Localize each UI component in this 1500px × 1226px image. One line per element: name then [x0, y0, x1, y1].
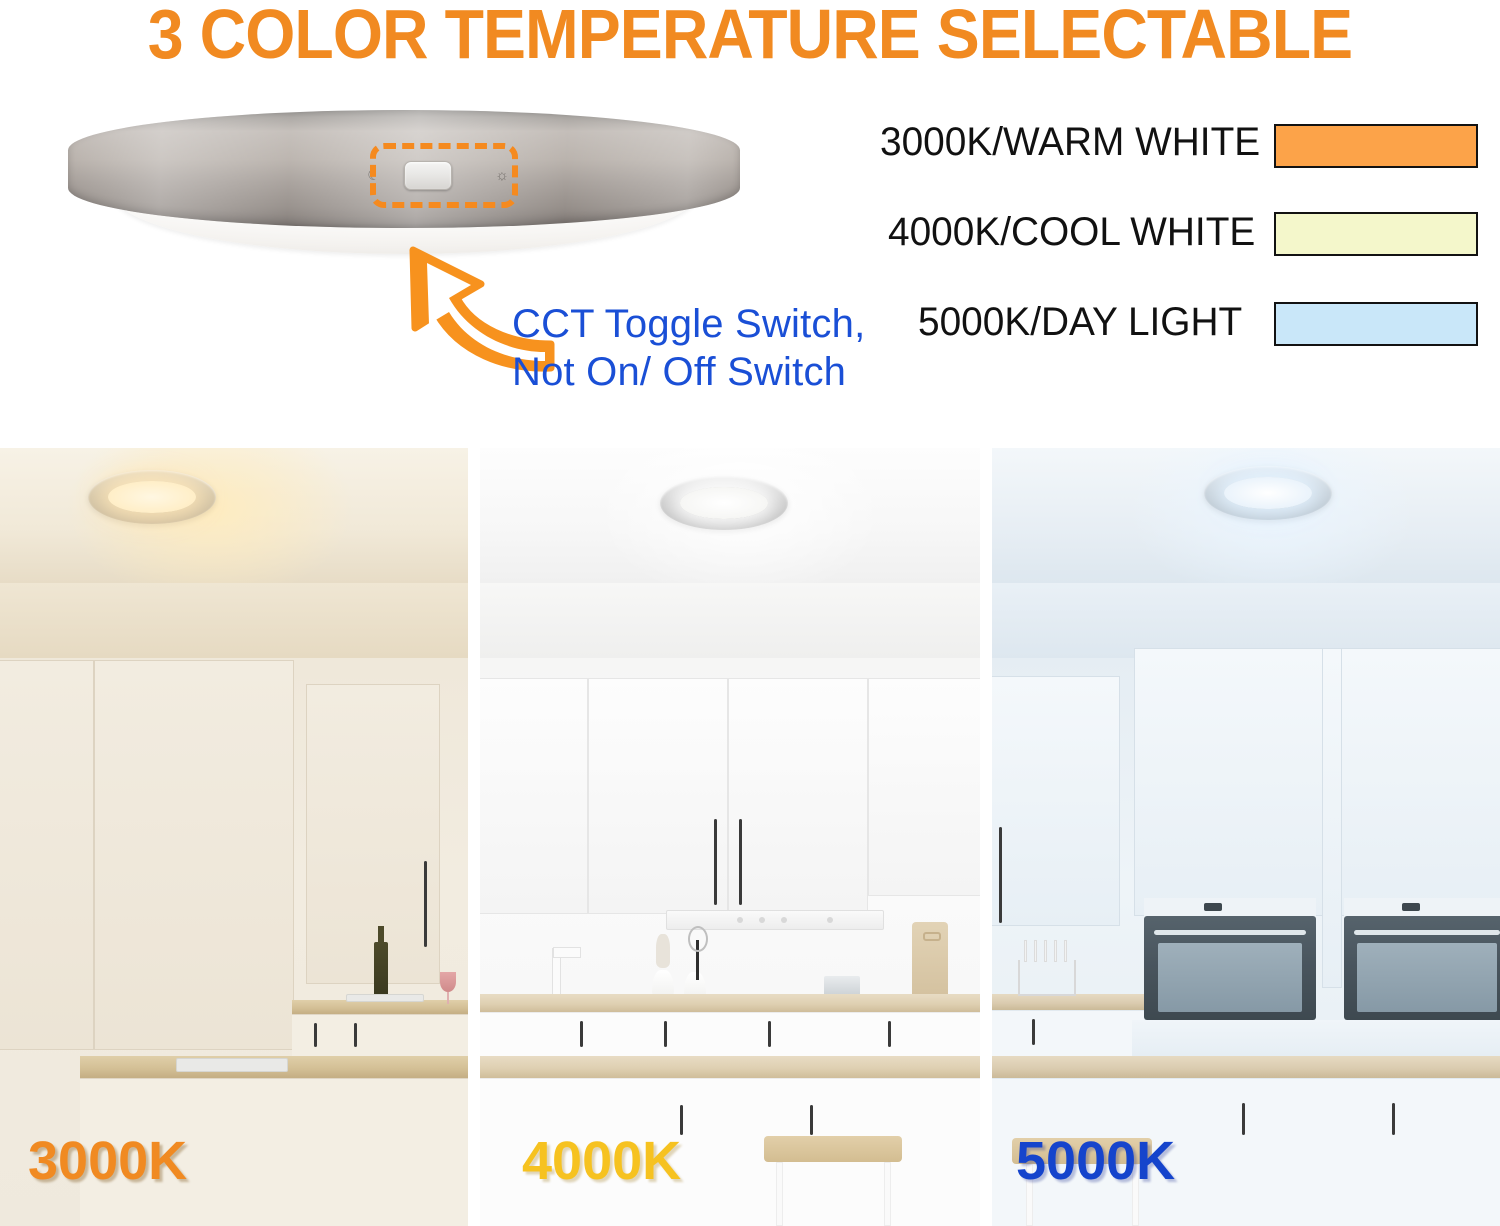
cabinet-handle	[424, 861, 427, 947]
ceiling-fixture	[660, 476, 788, 530]
oven-display	[1402, 903, 1420, 911]
back-counter	[480, 994, 980, 1012]
tray	[346, 994, 424, 1002]
ceiling-fixture	[88, 470, 216, 524]
swatch-warm-white	[1274, 124, 1478, 168]
soffit	[0, 583, 468, 658]
scene-4000k: 4000K	[480, 448, 980, 1226]
legend-label-warm-white: 3000K/WARM WHITE	[880, 120, 1260, 165]
wall-oven	[1144, 916, 1316, 1020]
page-title: 3 COLOR TEMPERATURE SELECTABLE	[60, 0, 1440, 74]
bar-stool-leg	[884, 1162, 891, 1226]
island-counter	[992, 1056, 1500, 1078]
base-cabinets	[292, 1014, 468, 1056]
wine-glass	[440, 972, 456, 992]
oven-display	[1204, 903, 1222, 911]
oven-cabinet	[1332, 648, 1500, 916]
base-cabinets	[480, 1012, 980, 1056]
cabinet-handle	[354, 1023, 357, 1047]
swatch-day-light	[1274, 302, 1478, 346]
cabinet-handle	[1392, 1103, 1395, 1135]
back-counter	[992, 994, 1144, 1010]
hood-control	[759, 917, 765, 923]
oven-control-panel	[1144, 898, 1316, 916]
scene-5000k: 5000K	[992, 448, 1500, 1226]
panel-label-5000k: 5000K	[1016, 1130, 1175, 1192]
scene-comparison-strip: 3000K	[0, 448, 1500, 1226]
dish-plate	[1054, 940, 1057, 962]
tall-cabinet	[0, 660, 94, 1050]
ceiling-fixture	[1204, 466, 1332, 520]
cabinet-handle	[580, 1021, 583, 1047]
tall-cabinet	[992, 676, 1120, 926]
cabinet-handle	[1032, 1019, 1035, 1045]
sink	[176, 1058, 288, 1072]
wall-oven	[1344, 916, 1500, 1020]
fixture-lens	[1224, 477, 1311, 509]
upper-cabinet	[480, 678, 588, 914]
legend-label-day-light: 5000K/DAY LIGHT	[918, 300, 1242, 345]
hood-control	[781, 917, 787, 923]
soffit	[992, 583, 1500, 658]
bar-stool-leg	[776, 1162, 783, 1226]
scene-3000k: 3000K	[0, 448, 468, 1226]
back-counter	[292, 1000, 468, 1014]
cabinet-divider	[1322, 648, 1342, 988]
infographic-root: 3 COLOR TEMPERATURE SELECTABLE ☾ ☼ CCT T…	[0, 0, 1500, 1226]
whisk-icon	[688, 926, 708, 952]
hood-control	[737, 917, 743, 923]
oven-handle	[1354, 930, 1500, 935]
cabinet-handle	[314, 1023, 317, 1047]
oven-cabinet	[1134, 648, 1332, 916]
island-counter	[480, 1056, 980, 1078]
bar-stool-seat	[764, 1136, 902, 1162]
ceiling	[0, 448, 468, 583]
dish-plate	[1044, 940, 1047, 962]
fixture-lens	[108, 481, 195, 513]
oven-glass	[1158, 943, 1302, 1012]
cabinet-handle	[810, 1105, 813, 1135]
cabinet-handle	[888, 1021, 891, 1047]
panel-label-3000k: 3000K	[28, 1130, 187, 1192]
color-temperature-legend: 3000K/WARM WHITE 4000K/COOL WHITE 5000K/…	[876, 118, 1486, 388]
dashed-highlight-box	[370, 143, 518, 208]
cabinet-handle	[664, 1021, 667, 1047]
legend-label-cool-white: 4000K/COOL WHITE	[888, 210, 1255, 255]
fixture-lens	[680, 487, 767, 519]
panel-divider	[980, 448, 992, 1226]
upper-cabinet	[728, 678, 868, 914]
panel-divider	[468, 448, 480, 1226]
callout-text: CCT Toggle Switch, Not On/ Off Switch	[512, 300, 865, 396]
upper-cabinet	[868, 678, 980, 896]
panel-label-4000k: 4000K	[522, 1130, 681, 1192]
oven-control-panel	[1344, 898, 1500, 916]
lower-panel	[1132, 1020, 1500, 1056]
legend-row-warm-white: 3000K/WARM WHITE	[876, 118, 1486, 208]
upper-cabinet	[588, 678, 728, 914]
oven-glass	[1357, 943, 1496, 1012]
cabinet-handle	[714, 819, 717, 905]
cabinet-handle	[1242, 1103, 1245, 1135]
cabinet-handle	[739, 819, 742, 905]
base-cabinets	[992, 1010, 1144, 1056]
cabinet-handle	[768, 1021, 771, 1047]
dish-plate	[1064, 940, 1067, 962]
legend-row-day-light: 5000K/DAY LIGHT	[876, 298, 1486, 388]
oven-handle	[1154, 930, 1305, 935]
callout-line-1: CCT Toggle Switch,	[512, 300, 865, 348]
callout-line-2: Not On/ Off Switch	[512, 348, 865, 396]
dish-rack	[1018, 960, 1076, 996]
wine-bottle	[374, 942, 388, 1000]
hood-control	[827, 917, 833, 923]
swatch-cool-white	[1274, 212, 1478, 256]
tall-cabinet	[94, 660, 294, 1050]
soffit	[480, 583, 980, 658]
cutting-board-small	[656, 934, 670, 968]
dish-plate	[1034, 940, 1037, 962]
upper-cabinet	[306, 684, 440, 984]
legend-row-cool-white: 4000K/COOL WHITE	[876, 208, 1486, 298]
cabinet-handle	[999, 827, 1002, 923]
dish-plate	[1024, 940, 1027, 962]
